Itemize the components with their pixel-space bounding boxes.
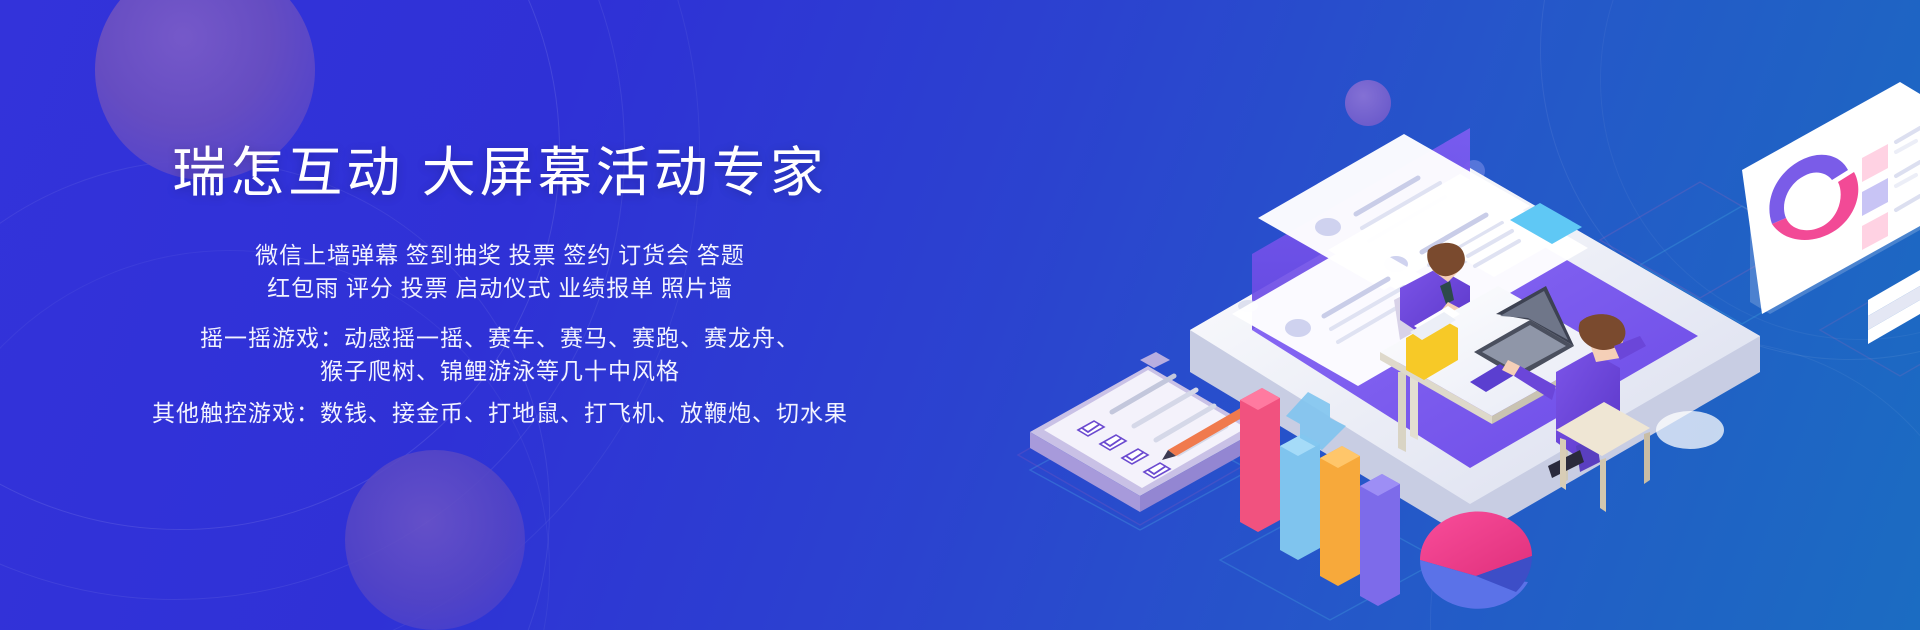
touch-games-block: 其他触控游戏：数钱、接金币、打地鼠、打飞机、放鞭炮、切水果 [0,397,1000,430]
feature-line: 红包雨 评分 投票 启动仪式 业绩报单 照片墙 [0,272,1000,305]
banner-copy: 瑞怎互动 大屏幕活动专家 微信上墙弹幕 签到抽奖 投票 签约 订货会 答题 红包… [0,0,1000,630]
document-stack [1868,270,1920,344]
promo-banner: 瑞怎互动 大屏幕活动专家 微信上墙弹幕 签到抽奖 投票 签约 订货会 答题 红包… [0,0,1920,630]
dashboard-card [1742,0,1920,314]
shake-games-block: 摇一摇游戏：动感摇一摇、赛车、赛马、赛跑、赛龙舟、 猴子爬树、锦鲤游泳等几十中风… [0,322,1000,388]
shake-games-line: 猴子爬树、锦鲤游泳等几十中风格 [0,355,1000,388]
banner-title: 瑞怎互动 大屏幕活动专家 [0,140,1000,206]
shake-games-line: 摇一摇游戏：动感摇一摇、赛车、赛马、赛跑、赛龙舟、 [0,322,1000,355]
pie-chart [1420,512,1532,609]
illustration [1000,0,1920,630]
feature-line: 微信上墙弹幕 签到抽奖 投票 签约 订货会 答题 [0,239,1000,272]
touch-games-line: 其他触控游戏：数钱、接金币、打地鼠、打飞机、放鞭炮、切水果 [0,397,1000,430]
feature-list-block: 微信上墙弹幕 签到抽奖 投票 签约 订货会 答题 红包雨 评分 投票 启动仪式 … [0,239,1000,305]
